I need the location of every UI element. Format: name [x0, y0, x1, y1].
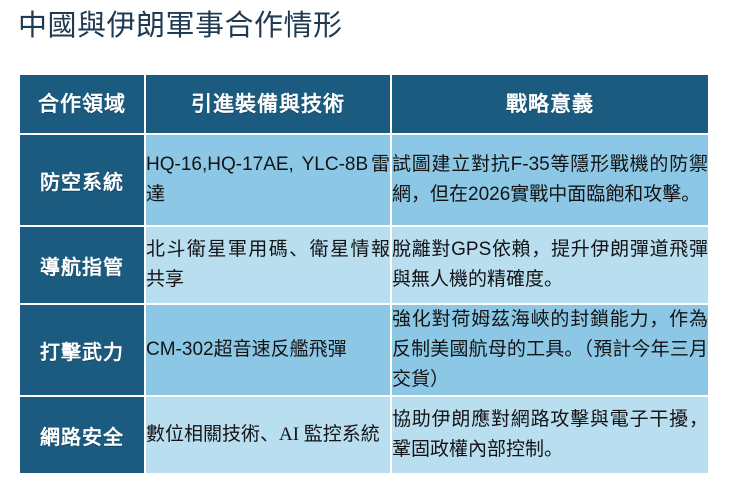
column-header-equipment: 引進裝備與技術 — [146, 75, 392, 135]
row-significance-navigation-c2: 脫離對GPS依賴，提升伊朗彈道飛彈與無人機的精確度。 — [392, 227, 708, 305]
significance-latin-f35: F-35 — [511, 154, 550, 175]
table-header: 合作領域 引進裝備與技術 戰略意義 — [20, 75, 708, 135]
column-header-significance: 戰略意義 — [392, 75, 708, 135]
row-category-strike-power: 打擊武力 — [20, 305, 146, 397]
row-equipment-cyber-security: 數位相關技術、AI 監控系統 — [146, 397, 392, 473]
table-header-row: 合作領域 引進裝備與技術 戰略意義 — [20, 75, 708, 135]
equipment-cjk-text: 數位相關技術、AI 監控系統 — [146, 424, 380, 445]
table-body: 防空系統 HQ-16,HQ-17AE, YLC-8B雷達 試圖建立對抗F-35等… — [20, 135, 708, 473]
significance-text-a: 試圖建立對抗 — [392, 154, 511, 175]
significance-text-a: 強化對荷姆茲海峽的封鎖能力，作為反制美國航母的工具。（預計今年三月交貨） — [392, 309, 708, 390]
row-significance-strike-power: 強化對荷姆茲海峽的封鎖能力，作為反制美國航母的工具。（預計今年三月交貨） — [392, 305, 708, 397]
row-equipment-strike-power: CM-302超音速反艦飛彈 — [146, 305, 392, 397]
table-row: 打擊武力 CM-302超音速反艦飛彈 強化對荷姆茲海峽的封鎖能力，作為反制美國航… — [20, 305, 708, 397]
table-row: 防空系統 HQ-16,HQ-17AE, YLC-8B雷達 試圖建立對抗F-35等… — [20, 135, 708, 227]
slide-page: 中國與伊朗軍事合作情形 合作領域 引進裝備與技術 戰略意義 防空系統 HQ-16… — [0, 0, 729, 488]
row-equipment-air-defense: HQ-16,HQ-17AE, YLC-8B雷達 — [146, 135, 392, 227]
page-title: 中國與伊朗軍事合作情形 — [18, 6, 343, 46]
significance-text-c: 實戰中面臨飽和攻擊。 — [510, 184, 700, 205]
row-significance-cyber-security: 協助伊朗應對網路攻擊與電子干擾，鞏固政權內部控制。 — [392, 397, 708, 473]
row-category-cyber-security: 網路安全 — [20, 397, 146, 473]
significance-text-a: 協助伊朗應對網路攻擊與電子干擾，鞏固政權內部控制。 — [392, 409, 708, 460]
row-significance-air-defense: 試圖建立對抗F-35等隱形戰機的防禦網，但在2026實戰中面臨飽和攻擊。 — [392, 135, 708, 227]
equipment-cjk-text: 超音速反艦飛彈 — [214, 339, 347, 360]
row-equipment-navigation-c2: 北斗衛星軍用碼、衛星情報共享 — [146, 227, 392, 305]
column-header-domain: 合作領域 — [20, 75, 146, 135]
equipment-latin-text: CM-302 — [146, 339, 214, 360]
significance-latin-gps: GPS — [451, 239, 491, 260]
row-category-navigation-c2: 導航指管 — [20, 227, 146, 305]
equipment-latin-text: HQ-16,HQ-17AE, YLC-8B — [146, 154, 368, 175]
military-cooperation-table: 合作領域 引進裝備與技術 戰略意義 防空系統 HQ-16,HQ-17AE, YL… — [20, 75, 708, 473]
significance-text-a: 脫離對 — [392, 239, 451, 260]
table-row: 導航指管 北斗衛星軍用碼、衛星情報共享 脫離對GPS依賴，提升伊朗彈道飛彈與無人… — [20, 227, 708, 305]
significance-latin-2026: 2026 — [468, 184, 510, 205]
equipment-cjk-text: 北斗衛星軍用碼、衛星情報共享 — [146, 239, 390, 290]
row-category-air-defense: 防空系統 — [20, 135, 146, 227]
military-cooperation-table-wrapper: 合作領域 引進裝備與技術 戰略意義 防空系統 HQ-16,HQ-17AE, YL… — [20, 75, 708, 481]
table-row: 網路安全 數位相關技術、AI 監控系統 協助伊朗應對網路攻擊與電子干擾，鞏固政權… — [20, 397, 708, 473]
